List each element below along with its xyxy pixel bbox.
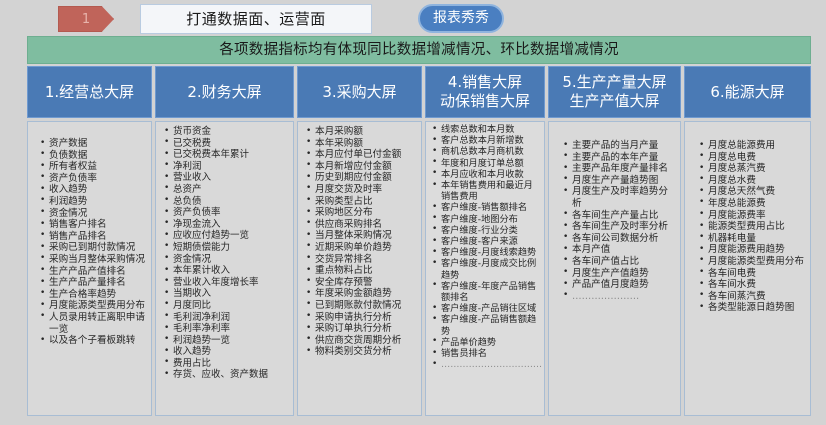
list-item: 本年累计收入 — [162, 265, 289, 277]
list-item: 生产产品产值排名 — [38, 266, 147, 278]
column-6-body: 月度总能源费用 月度总电费 月度总蒸汽费 月度总水费 月度总天然气费 年度总能源… — [684, 121, 811, 416]
list-item: 能源类型费用占比 — [697, 221, 806, 233]
list-item: 净现金流入 — [162, 219, 289, 231]
list-item: 月度总水费 — [697, 175, 806, 187]
list-item: 采购申请执行分析 — [304, 312, 417, 324]
list-item: 月度交货及时率 — [304, 184, 417, 196]
list-item: 主要产品年度产量排名 — [561, 163, 676, 175]
list-item: 收入趋势 — [38, 184, 147, 196]
list-item: 各车间公司数据分析 — [561, 233, 676, 245]
list-item: 主要产品的本年产量 — [561, 152, 676, 164]
column-5-header[interactable]: 5.生产产量大屏 生产产值大屏 — [548, 66, 681, 118]
list-item: 线索总数和本月数 — [430, 124, 540, 135]
list-item: 已交税费本年累计 — [162, 149, 289, 161]
list-item: 资金情况 — [38, 208, 147, 220]
list-item: 客户维度-地图分布 — [430, 214, 540, 225]
list-item: 月度能源类型费用分布 — [697, 256, 806, 268]
list-item: 收入趋势 — [162, 346, 289, 358]
column-3: 3.采购大屏 本月采购额 本年采购额 本月应付单已付金额 本月新增应付金额 历史… — [297, 66, 422, 418]
list-item: 各车间产值占比 — [561, 256, 676, 268]
column-2-header[interactable]: 2.财务大屏 — [155, 66, 294, 118]
column-2: 2.财务大屏 货币资金 已交税费 已交税费本年累计 净利润 营业收入 总资产 总… — [155, 66, 294, 418]
page-title: 打通数据面、运营面 — [140, 4, 372, 34]
list-item: 各车间蒸汽费 — [697, 291, 806, 303]
list-item: 产品单价趋势 — [430, 337, 540, 348]
list-item: 月度总蒸汽费 — [697, 163, 806, 175]
list-item: 安全库存预警 — [304, 277, 417, 289]
list-item: 销售客户排名 — [38, 219, 147, 231]
list-item: 当期收入 — [162, 288, 289, 300]
list-item: 费用占比 — [162, 358, 289, 370]
list-item: 重点物料占比 — [304, 265, 417, 277]
list-item: 客户维度-销售额排名 — [430, 202, 540, 213]
column-4-body: 线索总数和本月数 客户总数本月新增数 商机总数本月商机数 年度和月度订单总额 本… — [425, 121, 545, 416]
list-item: 近期采购单价趋势 — [304, 242, 417, 254]
list-item: 月度总电费 — [697, 152, 806, 164]
list-item: 资产负债率 — [38, 173, 147, 185]
list-item: 本月产值 — [561, 244, 676, 256]
list-item: 人员录用转正离职申请一览 — [38, 312, 147, 335]
brand-badge[interactable]: 报表秀秀 — [418, 4, 504, 33]
list-item: 客户维度-客户来源 — [430, 236, 540, 247]
list-item: 客户维度-产品销售额趋势 — [430, 314, 540, 336]
list-item: 各类型能源日趋势图 — [697, 302, 806, 314]
list-item: 各车间水费 — [697, 279, 806, 291]
list-item: 总负债 — [162, 196, 289, 208]
list-item: 生产合格率趋势 — [38, 289, 147, 301]
list-item: 本年销售费用和最近月销售费用 — [430, 180, 540, 202]
step-number-badge: 1 — [58, 6, 114, 32]
list-item: 机器耗电量 — [697, 233, 806, 245]
dashboard-columns: 1.经营总大屏 资产数据 负债数据 所有者权益 资产负债率 收入趋势 利润趋势 … — [0, 66, 826, 418]
column-3-header[interactable]: 3.采购大屏 — [297, 66, 422, 118]
list-item: 产品产值月度趋势 — [561, 279, 676, 291]
top-toolbar: 1 打通数据面、运营面 报表秀秀 — [0, 0, 826, 36]
column-1-header[interactable]: 1.经营总大屏 — [27, 66, 152, 118]
list-item: 供应商交货周期分析 — [304, 335, 417, 347]
list-item: 月度生产产值趋势 — [561, 268, 676, 280]
list-item: 资金情况 — [162, 254, 289, 266]
list-item: 销售产品排名 — [38, 231, 147, 243]
list-item: 资产负债率 — [162, 207, 289, 219]
column-5: 5.生产产量大屏 生产产值大屏 主要产品的当月产量 主要产品的本年产量 主要产品… — [548, 66, 681, 418]
list-item: 月度生产及时率趋势分析 — [561, 186, 676, 209]
list-item: 月度能源费用趋势 — [697, 244, 806, 256]
list-item: 生产产品产量排名 — [38, 277, 147, 289]
column-6-list: 月度总能源费用 月度总电费 月度总蒸汽费 月度总水费 月度总天然气费 年度总能源… — [697, 140, 806, 314]
list-item: 本月应付单已付金额 — [304, 149, 417, 161]
list-item-ellipsis: …………………………… — [430, 359, 540, 370]
list-item: 月度同比 — [162, 300, 289, 312]
list-item: 本月采购额 — [304, 126, 417, 138]
list-item: 已交税费 — [162, 138, 289, 150]
list-item: 供应商采购排名 — [304, 219, 417, 231]
column-1-list: 资产数据 负债数据 所有者权益 资产负债率 收入趋势 利润趋势 资金情况 销售客… — [38, 138, 147, 347]
list-item: 客户维度-行业分类 — [430, 225, 540, 236]
list-item: 交货异常排名 — [304, 254, 417, 266]
list-item: 客户维度-月度线索趋势 — [430, 247, 540, 258]
list-item-ellipsis: ………………… — [561, 291, 676, 303]
list-item: 已到期账款付款情况 — [304, 300, 417, 312]
list-item: 本月新增应付金额 — [304, 161, 417, 173]
list-item: 货币资金 — [162, 126, 289, 138]
list-item: 负债数据 — [38, 150, 147, 162]
list-item: 利润趋势一览 — [162, 335, 289, 347]
list-item: 历史到期应付金额 — [304, 172, 417, 184]
list-item: 年度采购金额趋势 — [304, 288, 417, 300]
list-item: 营业收入 — [162, 172, 289, 184]
list-item: 本月应收和本月收款 — [430, 169, 540, 180]
column-2-body: 货币资金 已交税费 已交税费本年累计 净利润 营业收入 总资产 总负债 资产负债… — [155, 121, 294, 416]
list-item: 营业收入年度增长率 — [162, 277, 289, 289]
list-item: 月度总能源费用 — [697, 140, 806, 152]
list-item: 各车间生产及时率分析 — [561, 221, 676, 233]
list-item: 短期债偿能力 — [162, 242, 289, 254]
list-item: 采购已到期付款情况 — [38, 242, 147, 254]
list-item: 客户维度-月度成交比例趋势 — [430, 258, 540, 280]
list-item: 商机总数本月商机数 — [430, 146, 540, 157]
list-item: 采购订单执行分析 — [304, 323, 417, 335]
list-item: 资产数据 — [38, 138, 147, 150]
list-item: 年度和月度订单总额 — [430, 158, 540, 169]
list-item: 销售员排名 — [430, 348, 540, 359]
list-item: 采购当月整体采购情况 — [38, 254, 147, 266]
column-4-header[interactable]: 4.销售大屏 动保销售大屏 — [425, 66, 545, 118]
column-6: 6.能源大屏 月度总能源费用 月度总电费 月度总蒸汽费 月度总水费 月度总天然气… — [684, 66, 811, 418]
column-5-body: 主要产品的当月产量 主要产品的本年产量 主要产品年度产量排名 月度生产产量趋势图… — [548, 121, 681, 416]
list-item: 各车间电费 — [697, 268, 806, 280]
list-item: 各车间生产产量占比 — [561, 210, 676, 222]
list-item: 以及各个子看板跳转 — [38, 335, 147, 347]
list-item: 物料类别交货分析 — [304, 346, 417, 358]
list-item: 主要产品的当月产量 — [561, 140, 676, 152]
column-3-body: 本月采购额 本年采购额 本月应付单已付金额 本月新增应付金额 历史到期应付金额 … — [297, 121, 422, 416]
list-item: 客户维度-年度产品销售额排名 — [430, 281, 540, 303]
column-2-list: 货币资金 已交税费 已交税费本年累计 净利润 营业收入 总资产 总负债 资产负债… — [162, 126, 289, 381]
list-item: 采购地区分布 — [304, 207, 417, 219]
column-4-list: 线索总数和本月数 客户总数本月新增数 商机总数本月商机数 年度和月度订单总额 本… — [430, 124, 540, 370]
list-item: 年度总能源费 — [697, 198, 806, 210]
list-item: 毛利润净利润 — [162, 312, 289, 324]
list-item: 总资产 — [162, 184, 289, 196]
column-4: 4.销售大屏 动保销售大屏 线索总数和本月数 客户总数本月新增数 商机总数本月商… — [425, 66, 545, 418]
list-item: 所有者权益 — [38, 161, 147, 173]
list-item: 采购类型占比 — [304, 196, 417, 208]
list-item: 月度能源费率 — [697, 210, 806, 222]
subtitle-banner: 各项数据指标均有体现同比数据增减情况、环比数据增减情况 — [27, 36, 811, 64]
list-item: 月度能源类型费用分布 — [38, 300, 147, 312]
column-3-list: 本月采购额 本年采购额 本月应付单已付金额 本月新增应付金额 历史到期应付金额 … — [304, 126, 417, 358]
column-1-body: 资产数据 负债数据 所有者权益 资产负债率 收入趋势 利润趋势 资金情况 销售客… — [27, 121, 152, 416]
list-item: 利润趋势 — [38, 196, 147, 208]
list-item: 存货、应收、资产数据 — [162, 369, 289, 381]
list-item: 本年采购额 — [304, 138, 417, 150]
list-item: 月度总天然气费 — [697, 186, 806, 198]
list-item: 当月整体采购情况 — [304, 230, 417, 242]
list-item: 月度生产产量趋势图 — [561, 175, 676, 187]
column-5-list: 主要产品的当月产量 主要产品的本年产量 主要产品年度产量排名 月度生产产量趋势图… — [561, 140, 676, 302]
column-6-header[interactable]: 6.能源大屏 — [684, 66, 811, 118]
list-item: 客户维度-产品销往区域 — [430, 303, 540, 314]
list-item: 净利润 — [162, 161, 289, 173]
list-item: 应收应付趋势一览 — [162, 230, 289, 242]
column-1: 1.经营总大屏 资产数据 负债数据 所有者权益 资产负债率 收入趋势 利润趋势 … — [27, 66, 152, 418]
list-item: 客户总数本月新增数 — [430, 135, 540, 146]
list-item: 毛利率净利率 — [162, 323, 289, 335]
